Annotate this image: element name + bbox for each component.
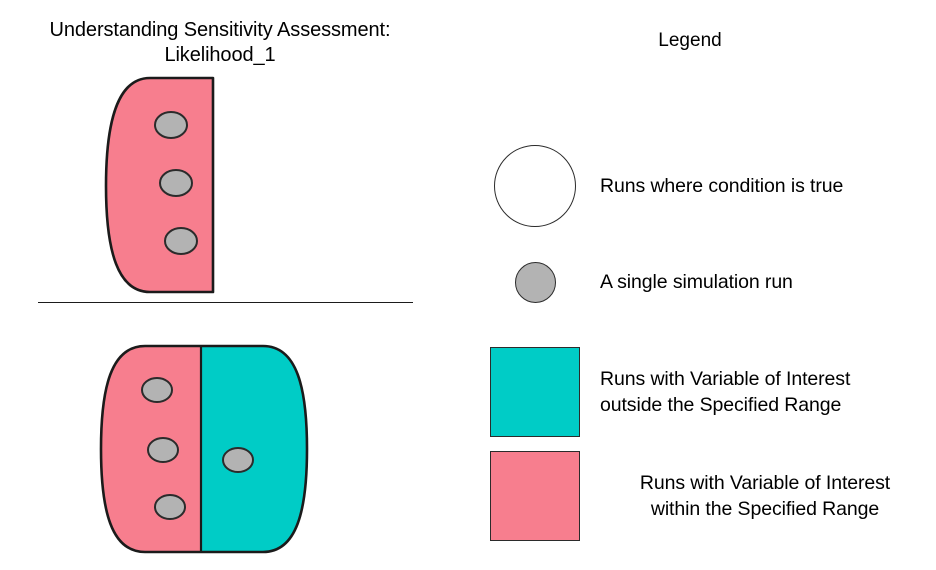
legend-swatch-cell xyxy=(470,451,600,541)
simulation-run-dot xyxy=(155,495,185,519)
simulation-run-dot xyxy=(223,448,253,472)
pink-square-icon xyxy=(490,451,580,541)
legend-swatch-cell xyxy=(470,145,600,227)
simulation-run-dot xyxy=(142,378,172,402)
legend-item-label: A single simulation run xyxy=(600,269,793,295)
legend-item-condition-true: Runs where condition is true xyxy=(470,138,936,234)
all-runs-group xyxy=(0,0,470,570)
legend-item-label: Runs with Variable of Interest outside t… xyxy=(600,366,850,418)
filled-circle-icon xyxy=(515,262,556,303)
legend-item-single-run: A single simulation run xyxy=(470,252,936,312)
outside-range-region-bottom xyxy=(201,340,316,560)
legend-swatch-cell xyxy=(470,262,600,303)
legend-item-label: Runs with Variable of Interest within th… xyxy=(600,470,930,522)
legend-swatch-cell xyxy=(470,347,600,437)
legend-panel: Legend Runs where condition is true A si… xyxy=(470,0,936,570)
diagram-panel: Understanding Sensitivity Assessment: Li… xyxy=(0,0,470,570)
teal-square-icon xyxy=(490,347,580,437)
legend-item-label: Runs where condition is true xyxy=(600,173,843,199)
open-circle-icon xyxy=(494,145,576,227)
legend-item-outside-range: Runs with Variable of Interest outside t… xyxy=(470,340,936,444)
legend-item-within-range: Runs with Variable of Interest within th… xyxy=(470,444,936,548)
simulation-run-dot xyxy=(148,438,178,462)
legend-title: Legend xyxy=(470,29,910,52)
